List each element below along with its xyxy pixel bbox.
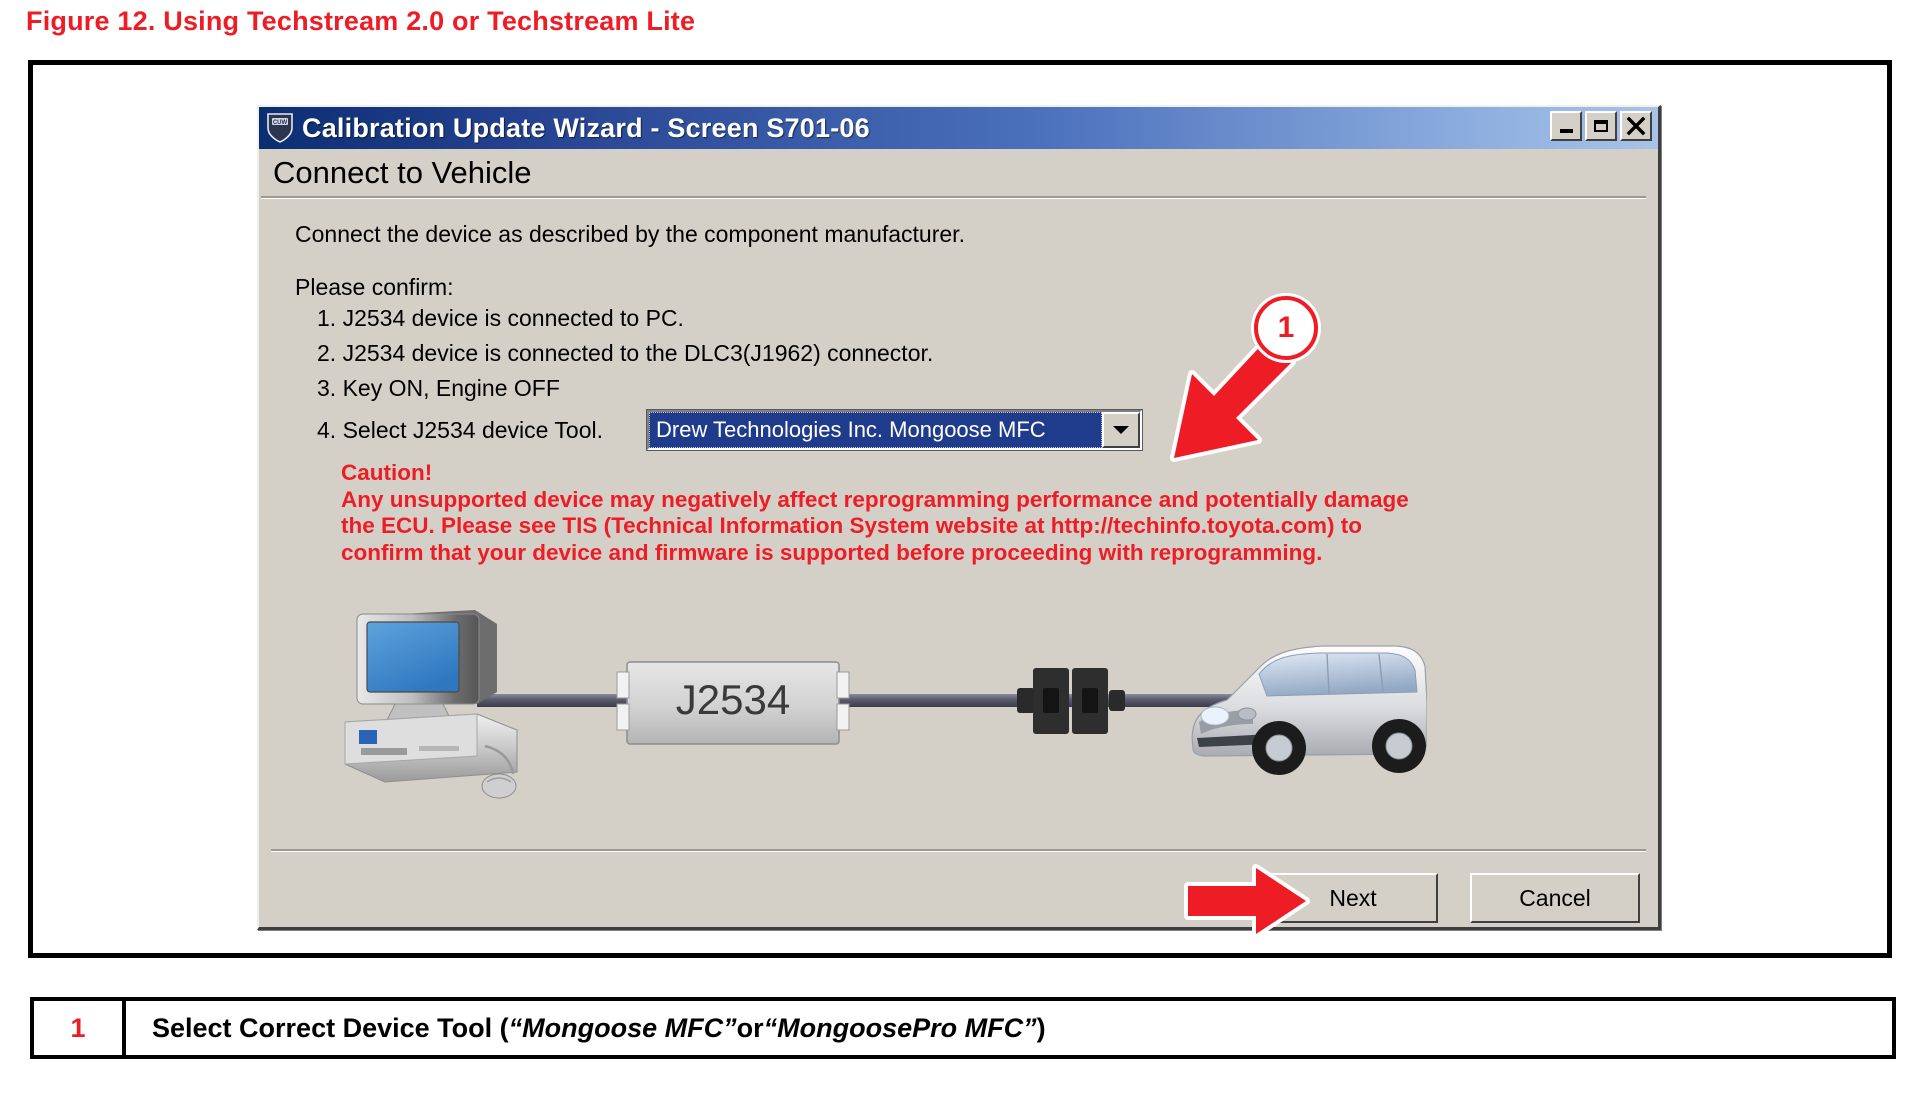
legend-number: 1 bbox=[34, 1001, 126, 1055]
close-button[interactable] bbox=[1620, 111, 1652, 141]
dialog-title: Calibration Update Wizard - Screen S701-… bbox=[302, 113, 870, 144]
legend-text-middle: or bbox=[737, 1013, 764, 1044]
confirm-item-1: 1. J2534 device is connected to PC. bbox=[295, 305, 1658, 332]
caution-line-3: confirm that your device and firmware is… bbox=[341, 540, 1658, 567]
next-button[interactable]: Next bbox=[1268, 873, 1438, 923]
minimize-icon bbox=[1560, 129, 1573, 133]
legend-table: 1 Select Correct Device Tool (“Mongoose … bbox=[30, 997, 1896, 1059]
button-bar-divider bbox=[271, 849, 1646, 852]
confirm-item-3: 3. Key ON, Engine OFF bbox=[295, 375, 1658, 402]
caution-line-1: Any unsupported device may negatively af… bbox=[341, 487, 1658, 514]
figure-caption: Figure 12. Using Techstream 2.0 or Techs… bbox=[26, 6, 695, 37]
legend-text-after: ) bbox=[1037, 1013, 1046, 1044]
svg-text:CUW: CUW bbox=[273, 120, 288, 126]
legend-description: Select Correct Device Tool (“Mongoose MF… bbox=[126, 1001, 1892, 1055]
confirm-label: Please confirm: bbox=[295, 274, 1658, 301]
confirm-item-2: 2. J2534 device is connected to the DLC3… bbox=[295, 340, 1658, 367]
minimize-button[interactable] bbox=[1550, 111, 1582, 141]
connection-diagram: J2534 bbox=[295, 596, 1658, 811]
calibration-update-wizard-dialog: CUW Calibration Update Wizard - Screen S… bbox=[257, 105, 1661, 930]
maximize-icon bbox=[1594, 120, 1608, 132]
intro-text: Connect the device as described by the c… bbox=[295, 221, 1658, 248]
legend-quote-2: “MongoosePro MFC” bbox=[764, 1013, 1037, 1044]
close-icon bbox=[1626, 116, 1646, 136]
caution-block: Caution! Any unsupported device may nega… bbox=[341, 460, 1658, 566]
button-bar: Next Cancel bbox=[1268, 873, 1640, 923]
caution-heading: Caution! bbox=[341, 460, 1658, 487]
confirm-item-4: 4. Select J2534 device Tool. Drew Techno… bbox=[295, 410, 1658, 450]
dialog-content: Connect the device as described by the c… bbox=[259, 199, 1658, 811]
legend-quote-1: “Mongoose MFC” bbox=[509, 1013, 737, 1044]
device-tool-selected-value[interactable]: Drew Technologies Inc. Mongoose MFC bbox=[649, 412, 1102, 448]
confirm-list: 1. J2534 device is connected to PC. 2. J… bbox=[295, 305, 1658, 450]
caution-line-2: the ECU. Please see TIS (Technical Infor… bbox=[341, 513, 1658, 540]
legend-text-before: Select Correct Device Tool ( bbox=[152, 1013, 509, 1044]
dialog-heading-area: Connect to Vehicle bbox=[259, 149, 1658, 193]
device-tool-combobox[interactable]: Drew Technologies Inc. Mongoose MFC bbox=[647, 410, 1142, 450]
callout-badge-1: 1 bbox=[1254, 296, 1318, 360]
window-controls bbox=[1550, 111, 1652, 141]
sedan-vehicle-icon bbox=[1192, 646, 1427, 775]
cancel-button[interactable]: Cancel bbox=[1470, 873, 1640, 923]
j2534-interface-box: J2534 bbox=[617, 662, 849, 744]
maximize-button[interactable] bbox=[1585, 111, 1617, 141]
dialog-titlebar[interactable]: CUW Calibration Update Wizard - Screen S… bbox=[259, 107, 1658, 149]
j2534-box-label: J2534 bbox=[676, 676, 790, 723]
chevron-down-icon[interactable] bbox=[1102, 412, 1140, 448]
confirm-item-4-label: 4. Select J2534 device Tool. bbox=[317, 417, 647, 444]
cuw-shield-icon: CUW bbox=[265, 112, 295, 144]
page-title: Connect to Vehicle bbox=[273, 155, 1658, 193]
